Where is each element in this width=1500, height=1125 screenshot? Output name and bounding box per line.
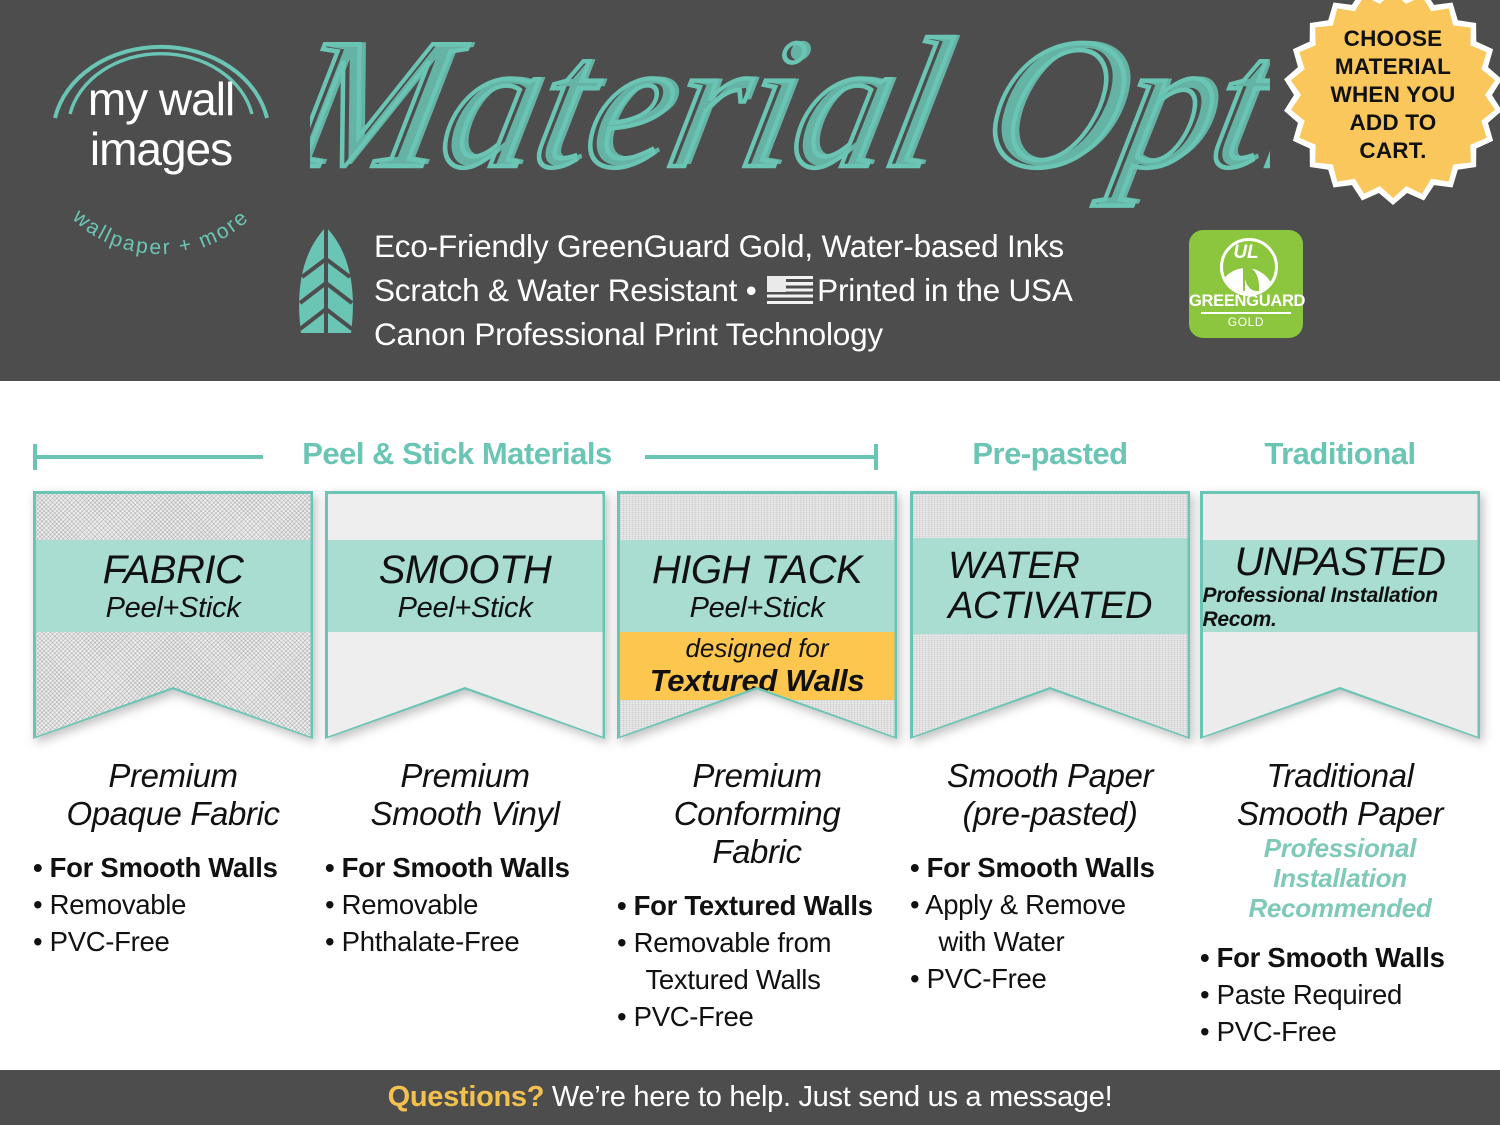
- materials-comparison: Peel & Stick Materials Pre-pasted Tradit…: [0, 381, 1500, 1070]
- material-description-water-activated: Smooth Paper(pre-pasted): [910, 757, 1190, 833]
- description-line: Premium: [33, 757, 313, 795]
- badge-line-1: CHOOSE: [1344, 25, 1443, 53]
- header-banner: my wall images wallpaper + more Material…: [0, 0, 1500, 381]
- svg-text:wallpaper + more: wallpaper + more: [68, 204, 254, 258]
- brand-logo: my wall images wallpaper + more: [36, 22, 286, 257]
- card-face: WATERACTIVATED: [913, 494, 1188, 737]
- description-line: Fabric: [617, 833, 897, 871]
- usa-flag-icon: [767, 276, 813, 305]
- material-column-water-activated[interactable]: WATERACTIVATEDSmooth Paper(pre-pasted)• …: [910, 491, 1190, 1013]
- choose-material-badge[interactable]: CHOOSE MATERIAL WHEN YOU ADD TO CART.: [1282, 0, 1500, 206]
- card-band-high-tack: HIGH TACKPeel+Stick: [620, 540, 895, 632]
- footer-message: Questions? We’re here to help. Just send…: [388, 1081, 1113, 1114]
- description-line: Premium: [617, 757, 897, 795]
- material-column-high-tack[interactable]: HIGH TACKPeel+Stickdesigned forTextured …: [617, 491, 897, 1051]
- footer-questions-label: Questions?: [388, 1081, 545, 1113]
- eco-line-1: Eco-Friendly GreenGuard Gold, Water-base…: [374, 224, 1194, 268]
- material-card-high-tack[interactable]: HIGH TACKPeel+Stickdesigned forTextured …: [617, 491, 897, 739]
- material-description-high-tack: PremiumConformingFabric: [617, 757, 897, 871]
- material-description-fabric: PremiumOpaque Fabric: [33, 757, 313, 833]
- eco-line-2-a: Scratch & Water Resistant •: [374, 272, 765, 308]
- group-rule-cap-right: [874, 444, 878, 470]
- card-title-line: HIGH TACK: [652, 548, 862, 592]
- infographic-page: my wall images wallpaper + more Material…: [0, 0, 1500, 1125]
- description-line: Smooth Paper: [1200, 795, 1480, 833]
- card-yellow-line-1: designed for: [685, 633, 828, 663]
- material-note-unpasted: Professional InstallationRecommended: [1200, 833, 1480, 923]
- badge-line-3: WHEN YOU: [1331, 81, 1456, 109]
- bullet-item: • Removable: [325, 886, 605, 923]
- card-title-line: ACTIVATED: [948, 586, 1152, 626]
- description-line: Opaque Fabric: [33, 795, 313, 833]
- bullet-item: • PVC-Free: [33, 923, 313, 960]
- material-bullets-high-tack: • For Textured Walls• Removable from Tex…: [617, 887, 897, 1035]
- material-description-unpasted: TraditionalSmooth Paper: [1200, 757, 1480, 833]
- card-subtitle: Professional Installation Recom.: [1203, 584, 1478, 632]
- card-band-water-activated: WATERACTIVATED: [913, 538, 1188, 634]
- card-face: HIGH TACKPeel+Stickdesigned forTextured …: [620, 494, 895, 737]
- badge-line-5: CART.: [1359, 137, 1426, 165]
- bullet-item: • For Smooth Walls: [325, 849, 605, 886]
- bullet-item: • Paste Required: [1200, 976, 1480, 1013]
- description-line: Smooth Vinyl: [325, 795, 605, 833]
- svg-text:Material Options: Material Options: [310, 14, 1270, 205]
- bullet-item: • Removable: [33, 886, 313, 923]
- card-title-line: SMOOTH: [379, 548, 552, 592]
- bullet-item: • Removable from: [617, 924, 897, 961]
- group-label-peel-stick: Peel & Stick Materials: [257, 436, 657, 472]
- eco-features-text: Eco-Friendly GreenGuard Gold, Water-base…: [374, 224, 1194, 356]
- bullet-item: • PVC-Free: [617, 998, 897, 1035]
- material-bullets-water-activated: • For Smooth Walls• Apply & Remove with …: [910, 849, 1190, 997]
- script-title-material-options: Material Options Material Options: [310, 14, 1270, 214]
- bullet-item: • Phthalate-Free: [325, 923, 605, 960]
- card-title-line: FABRIC: [103, 548, 244, 592]
- bullet-item: • For Smooth Walls: [1200, 939, 1480, 976]
- card-face: SMOOTHPeel+Stick: [328, 494, 603, 737]
- material-card-water-activated[interactable]: WATERACTIVATED: [910, 491, 1190, 739]
- badge-line-2: MATERIAL: [1335, 53, 1451, 81]
- bullet-item: • PVC-Free: [1200, 1013, 1480, 1050]
- bullet-item: • Apply & Remove: [910, 886, 1190, 923]
- card-subtitle: Peel+Stick: [690, 592, 825, 624]
- description-line: Conforming: [617, 795, 897, 833]
- card-title: SMOOTH: [379, 548, 552, 592]
- card-title: FABRIC: [103, 548, 244, 592]
- material-column-unpasted[interactable]: UNPASTEDProfessional Installation Recom.…: [1200, 491, 1480, 1066]
- material-bullets-unpasted: • For Smooth Walls• Paste Required• PVC-…: [1200, 939, 1480, 1050]
- card-title: HIGH TACK: [652, 548, 862, 592]
- material-column-smooth[interactable]: SMOOTHPeel+StickPremiumSmooth Vinyl• For…: [325, 491, 605, 976]
- note-line: Professional Installation: [1200, 833, 1480, 893]
- card-subtitle: Peel+Stick: [106, 592, 241, 624]
- material-bullets-fabric: • For Smooth Walls• Removable• PVC-Free: [33, 849, 313, 960]
- bullet-item: • For Smooth Walls: [910, 849, 1190, 886]
- group-header-peel-stick: Peel & Stick Materials: [33, 436, 878, 476]
- group-rule-left: [33, 455, 263, 459]
- logo-line-2: images: [36, 124, 286, 174]
- description-line: Premium: [325, 757, 605, 795]
- material-card-unpasted[interactable]: UNPASTEDProfessional Installation Recom.: [1200, 491, 1480, 739]
- group-label-traditional: Traditional: [1200, 436, 1480, 472]
- group-rule-right: [645, 455, 878, 459]
- greenguard-name: GREENGUARD: [1189, 292, 1303, 311]
- note-line: Recommended: [1200, 893, 1480, 923]
- bullet-item: • For Textured Walls: [617, 887, 897, 924]
- greenguard-divider: [1201, 312, 1291, 314]
- bullet-item: • PVC-Free: [910, 960, 1190, 997]
- material-card-smooth[interactable]: SMOOTHPeel+Stick: [325, 491, 605, 739]
- bullet-item: • For Smooth Walls: [33, 849, 313, 886]
- card-band-smooth: SMOOTHPeel+Stick: [328, 540, 603, 632]
- description-line: Smooth Paper: [910, 757, 1190, 795]
- eco-line-2-b: Printed in the USA: [817, 272, 1073, 308]
- greenguard-gold-logo: UL GREENGUARD GOLD: [1189, 230, 1303, 338]
- leaf-icon: [289, 225, 363, 337]
- material-column-fabric[interactable]: FABRICPeel+StickPremiumOpaque Fabric• Fo…: [33, 491, 313, 976]
- material-card-fabric[interactable]: FABRICPeel+Stick: [33, 491, 313, 739]
- badge-text: CHOOSE MATERIAL WHEN YOU ADD TO CART.: [1282, 0, 1500, 206]
- material-description-smooth: PremiumSmooth Vinyl: [325, 757, 605, 833]
- eco-line-2: Scratch & Water Resistant • Printed in t…: [374, 268, 1194, 312]
- card-title-line: WATER: [948, 546, 1152, 586]
- logo-tagline: wallpaper + more: [36, 182, 286, 258]
- card-face: FABRICPeel+Stick: [36, 494, 311, 737]
- logo-line-1: my wall: [36, 74, 286, 124]
- logo-wordmark: my wall images: [36, 74, 286, 174]
- greenguard-level: GOLD: [1189, 315, 1303, 329]
- material-bullets-smooth: • For Smooth Walls• Removable• Phthalate…: [325, 849, 605, 960]
- bullet-item: with Water: [910, 923, 1190, 960]
- eco-line-3: Canon Professional Print Technology: [374, 312, 1194, 356]
- card-band-fabric: FABRICPeel+Stick: [36, 540, 311, 632]
- ul-mark-circle: UL: [1220, 238, 1278, 296]
- description-line: (pre-pasted): [910, 795, 1190, 833]
- card-title-line: UNPASTED: [1235, 540, 1446, 584]
- card-face: UNPASTEDProfessional Installation Recom.: [1203, 494, 1478, 737]
- group-label-pre-pasted: Pre-pasted: [910, 436, 1190, 472]
- bullet-item: Textured Walls: [617, 961, 897, 998]
- footer-help-text: We’re here to help. Just send us a messa…: [544, 1081, 1112, 1113]
- badge-line-4: ADD TO: [1349, 109, 1436, 137]
- card-title: WATERACTIVATED: [948, 546, 1152, 626]
- ul-text: UL: [1223, 243, 1269, 263]
- card-title: UNPASTED: [1235, 540, 1446, 584]
- description-line: Traditional: [1200, 757, 1480, 795]
- card-yellow-line-2: Textured Walls: [650, 663, 865, 698]
- footer-bar: Questions? We’re here to help. Just send…: [0, 1070, 1500, 1125]
- card-subtitle: Peel+Stick: [398, 592, 533, 624]
- card-band-unpasted: UNPASTEDProfessional Installation Recom.: [1203, 540, 1478, 632]
